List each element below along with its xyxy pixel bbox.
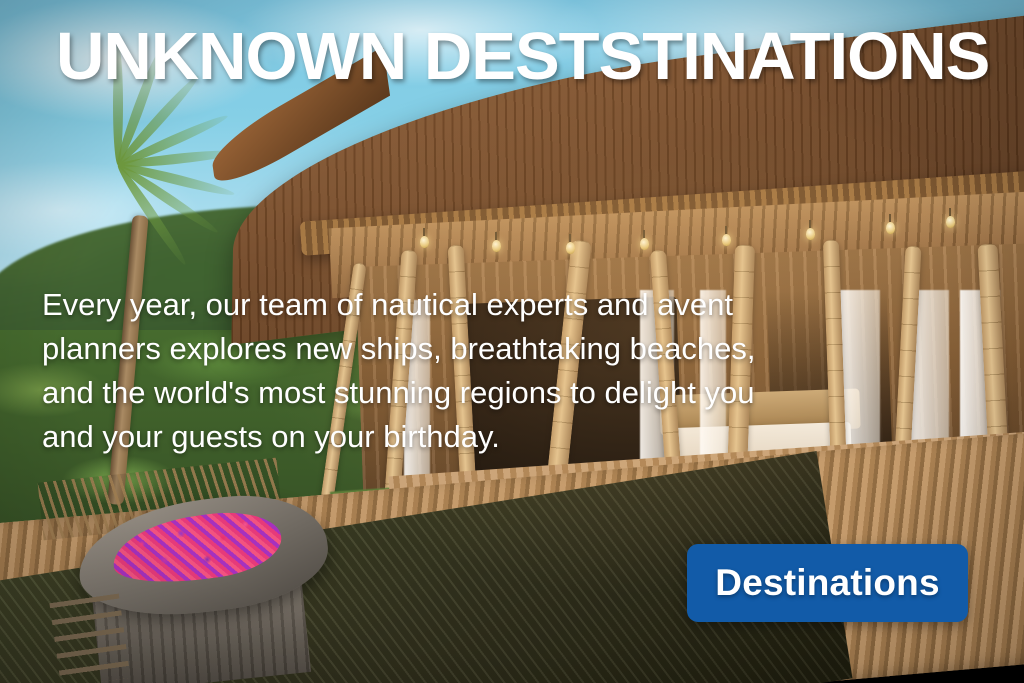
string-light-bulb [886,222,895,234]
string-light-bulb [722,234,731,246]
string-light-bulb [420,236,429,248]
description-line: and the world's most stunning regions to… [42,371,862,415]
string-light-bulb [640,238,649,250]
hero-description: Every year, our team of nautical experts… [42,283,862,459]
string-light-bulb [806,228,815,240]
description-line: planners explores new ships, breathtakin… [42,327,862,371]
page-title: UNKNOWN DESTSTINATIONS [56,23,1024,90]
destinations-button[interactable]: Destinations [687,544,968,622]
string-light-bulb [946,216,955,228]
description-line: Every year, our team of nautical experts… [42,283,862,327]
string-light-bulb [492,240,501,252]
string-light-bulb [566,242,575,254]
description-line: and your guests on your birthday. [42,415,862,459]
wooden-ladder [49,594,130,683]
hero-banner: UNKNOWN DESTSTINATIONS Every year, our t… [0,0,1024,683]
